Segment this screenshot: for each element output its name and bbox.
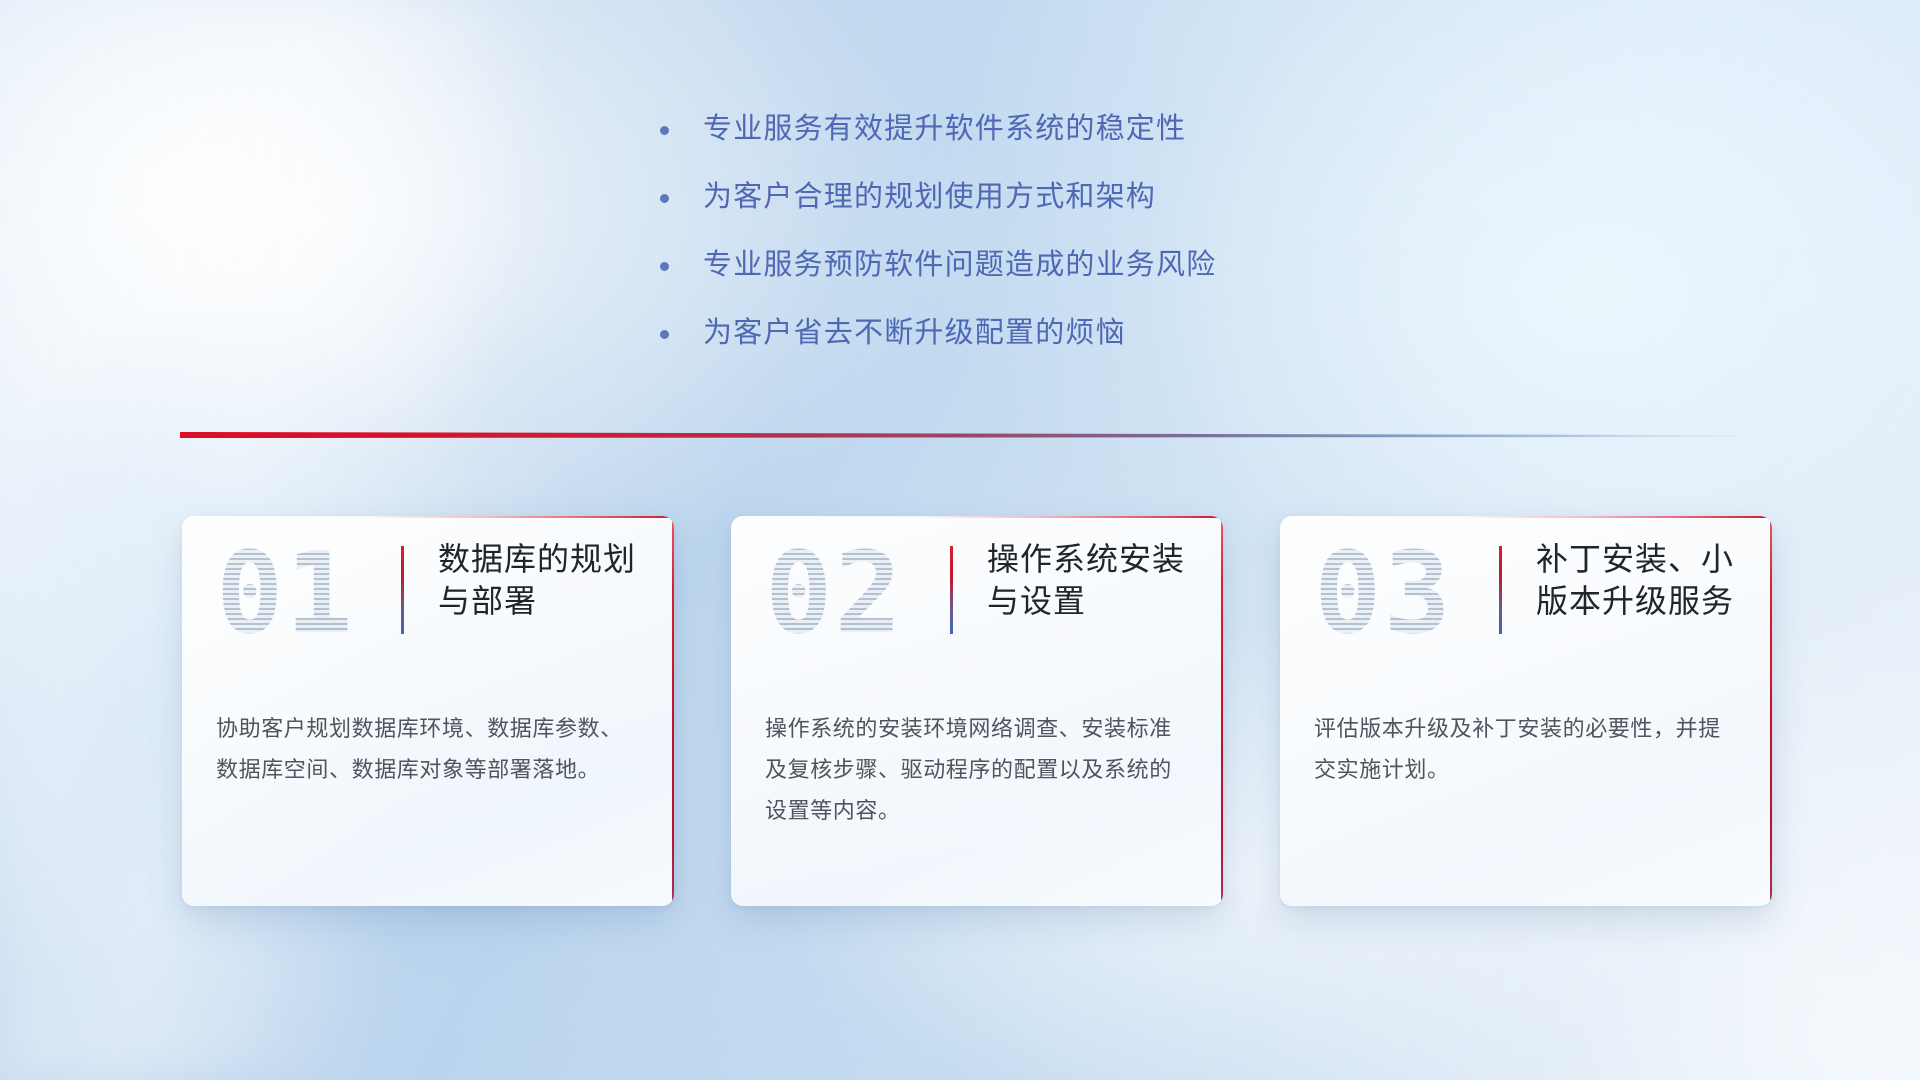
card-header: 02 02 操作系统安装与设置 <box>731 516 1223 688</box>
card-header: 01 01 数据库的规划与部署 <box>182 516 674 688</box>
bullet-text: 专业服务有效提升软件系统的稳定性 <box>703 108 1186 148</box>
list-item: 专业服务预防软件问题造成的业务风险 <box>660 244 1560 284</box>
card-title-divider <box>401 546 404 634</box>
benefits-list: 专业服务有效提升软件系统的稳定性 为客户合理的规划使用方式和架构 专业服务预防软… <box>660 108 1560 380</box>
bullet-text: 为客户省去不断升级配置的烦恼 <box>703 312 1126 352</box>
service-card[interactable]: 01 01 数据库的规划与部署 协助客户规划数据库环境、数据库参数、数据库空间、… <box>182 516 674 906</box>
section-divider <box>180 424 1740 446</box>
bullet-text: 为客户合理的规划使用方式和架构 <box>703 176 1156 216</box>
bullet-dot-icon <box>660 126 669 135</box>
card-title: 补丁安装、小版本升级服务 <box>1536 538 1766 622</box>
service-cards: 01 01 数据库的规划与部署 协助客户规划数据库环境、数据库参数、数据库空间、… <box>182 516 1772 906</box>
bullet-text: 专业服务预防软件问题造成的业务风险 <box>703 244 1216 284</box>
card-title: 操作系统安装与设置 <box>987 538 1217 622</box>
card-title-divider <box>1499 546 1502 634</box>
card-number-ghost: 02 <box>765 538 904 650</box>
card-title-divider <box>950 546 953 634</box>
slide-canvas: 专业服务有效提升软件系统的稳定性 为客户合理的规划使用方式和架构 专业服务预防软… <box>0 0 1920 1080</box>
card-body-text: 操作系统的安装环境网络调查、安装标准及复核步骤、驱动程序的配置以及系统的设置等内… <box>765 710 1193 833</box>
bullet-dot-icon <box>660 194 669 203</box>
card-number-ghost: 01 <box>216 538 355 650</box>
card-header: 03 03 补丁安装、小版本升级服务 <box>1280 516 1772 688</box>
list-item: 为客户省去不断升级配置的烦恼 <box>660 312 1560 352</box>
bullet-dot-icon <box>660 330 669 339</box>
bullet-dot-icon <box>660 262 669 271</box>
card-body-text: 协助客户规划数据库环境、数据库参数、数据库空间、数据库对象等部署落地。 <box>216 710 644 792</box>
card-number-ghost: 03 <box>1314 538 1453 650</box>
list-item: 专业服务有效提升软件系统的稳定性 <box>660 108 1560 148</box>
card-title: 数据库的规划与部署 <box>438 538 668 622</box>
service-card[interactable]: 03 03 补丁安装、小版本升级服务 评估版本升级及补丁安装的必要性，并提交实施… <box>1280 516 1772 906</box>
service-card[interactable]: 02 02 操作系统安装与设置 操作系统的安装环境网络调查、安装标准及复核步骤、… <box>731 516 1223 906</box>
list-item: 为客户合理的规划使用方式和架构 <box>660 176 1560 216</box>
card-body-text: 评估版本升级及补丁安装的必要性，并提交实施计划。 <box>1314 710 1742 792</box>
